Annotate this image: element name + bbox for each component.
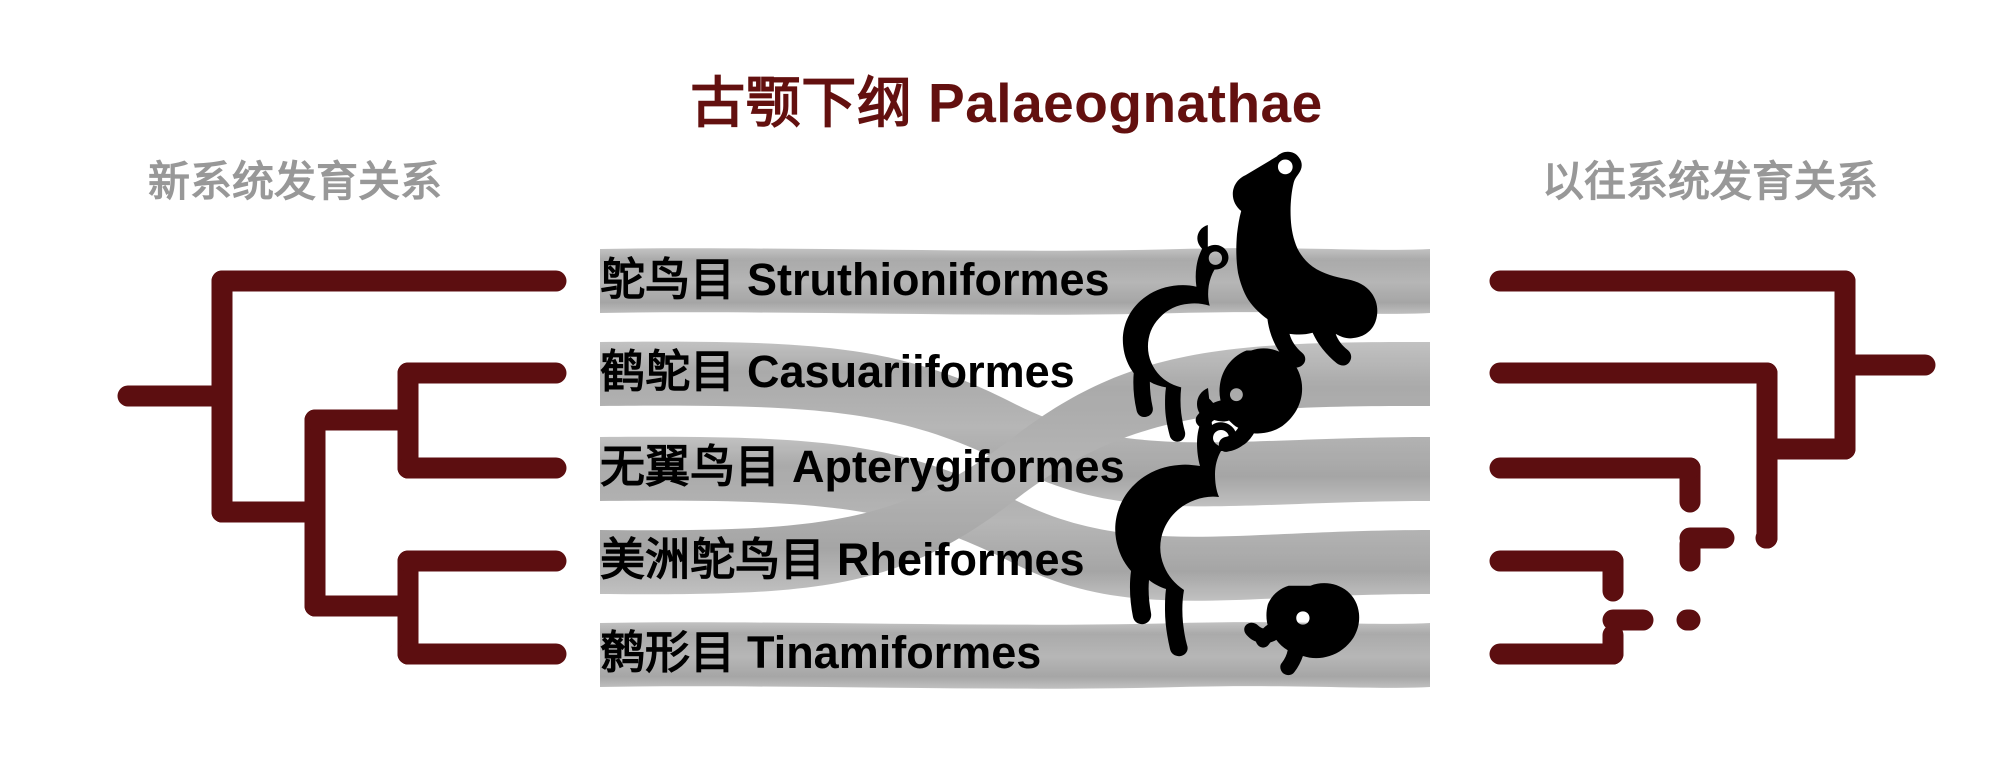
taxon-label-apterygiformes: 无翼鸟目Apterygiformes xyxy=(600,444,1125,489)
right-panel-label: 以往系统发育关系 xyxy=(1460,148,1960,209)
taxon-sci-2: Apterygiformes xyxy=(780,441,1125,492)
diagram-canvas: 古颚下纲 Palaeognathae 新系统发育关系 以往系统发育关系 鸵鸟目S… xyxy=(0,0,2013,773)
taxon-sci-1: Casuariiformes xyxy=(735,346,1075,397)
left-cladogram xyxy=(128,281,556,654)
taxon-cn-3: 美洲鸵鸟目 xyxy=(600,534,825,585)
taxon-label-struthioniformes: 鸵鸟目Struthioniformes xyxy=(600,257,1110,302)
taxon-label-tinamiformes: 鹩形目Tinamiformes xyxy=(600,630,1041,675)
left-panel-label: 新系统发育关系 xyxy=(60,148,530,209)
taxon-cn-0: 鸵鸟目 xyxy=(600,254,735,305)
page-title: 古颚下纲 Palaeognathae xyxy=(0,58,2013,138)
taxon-cn-2: 无翼鸟目 xyxy=(600,441,780,492)
taxon-sci-3: Rheiformes xyxy=(825,534,1085,585)
taxon-label-casuariiformes: 鹤鸵目Casuariiformes xyxy=(600,349,1075,394)
taxon-cn-4: 鹩形目 xyxy=(600,627,735,678)
taxon-sci-4: Tinamiformes xyxy=(735,627,1041,678)
taxon-cn-1: 鹤鸵目 xyxy=(600,346,735,397)
taxon-sci-0: Struthioniformes xyxy=(735,254,1110,305)
taxon-label-rheiformes: 美洲鸵鸟目Rheiformes xyxy=(600,537,1085,582)
right-cladogram xyxy=(1500,281,1925,654)
